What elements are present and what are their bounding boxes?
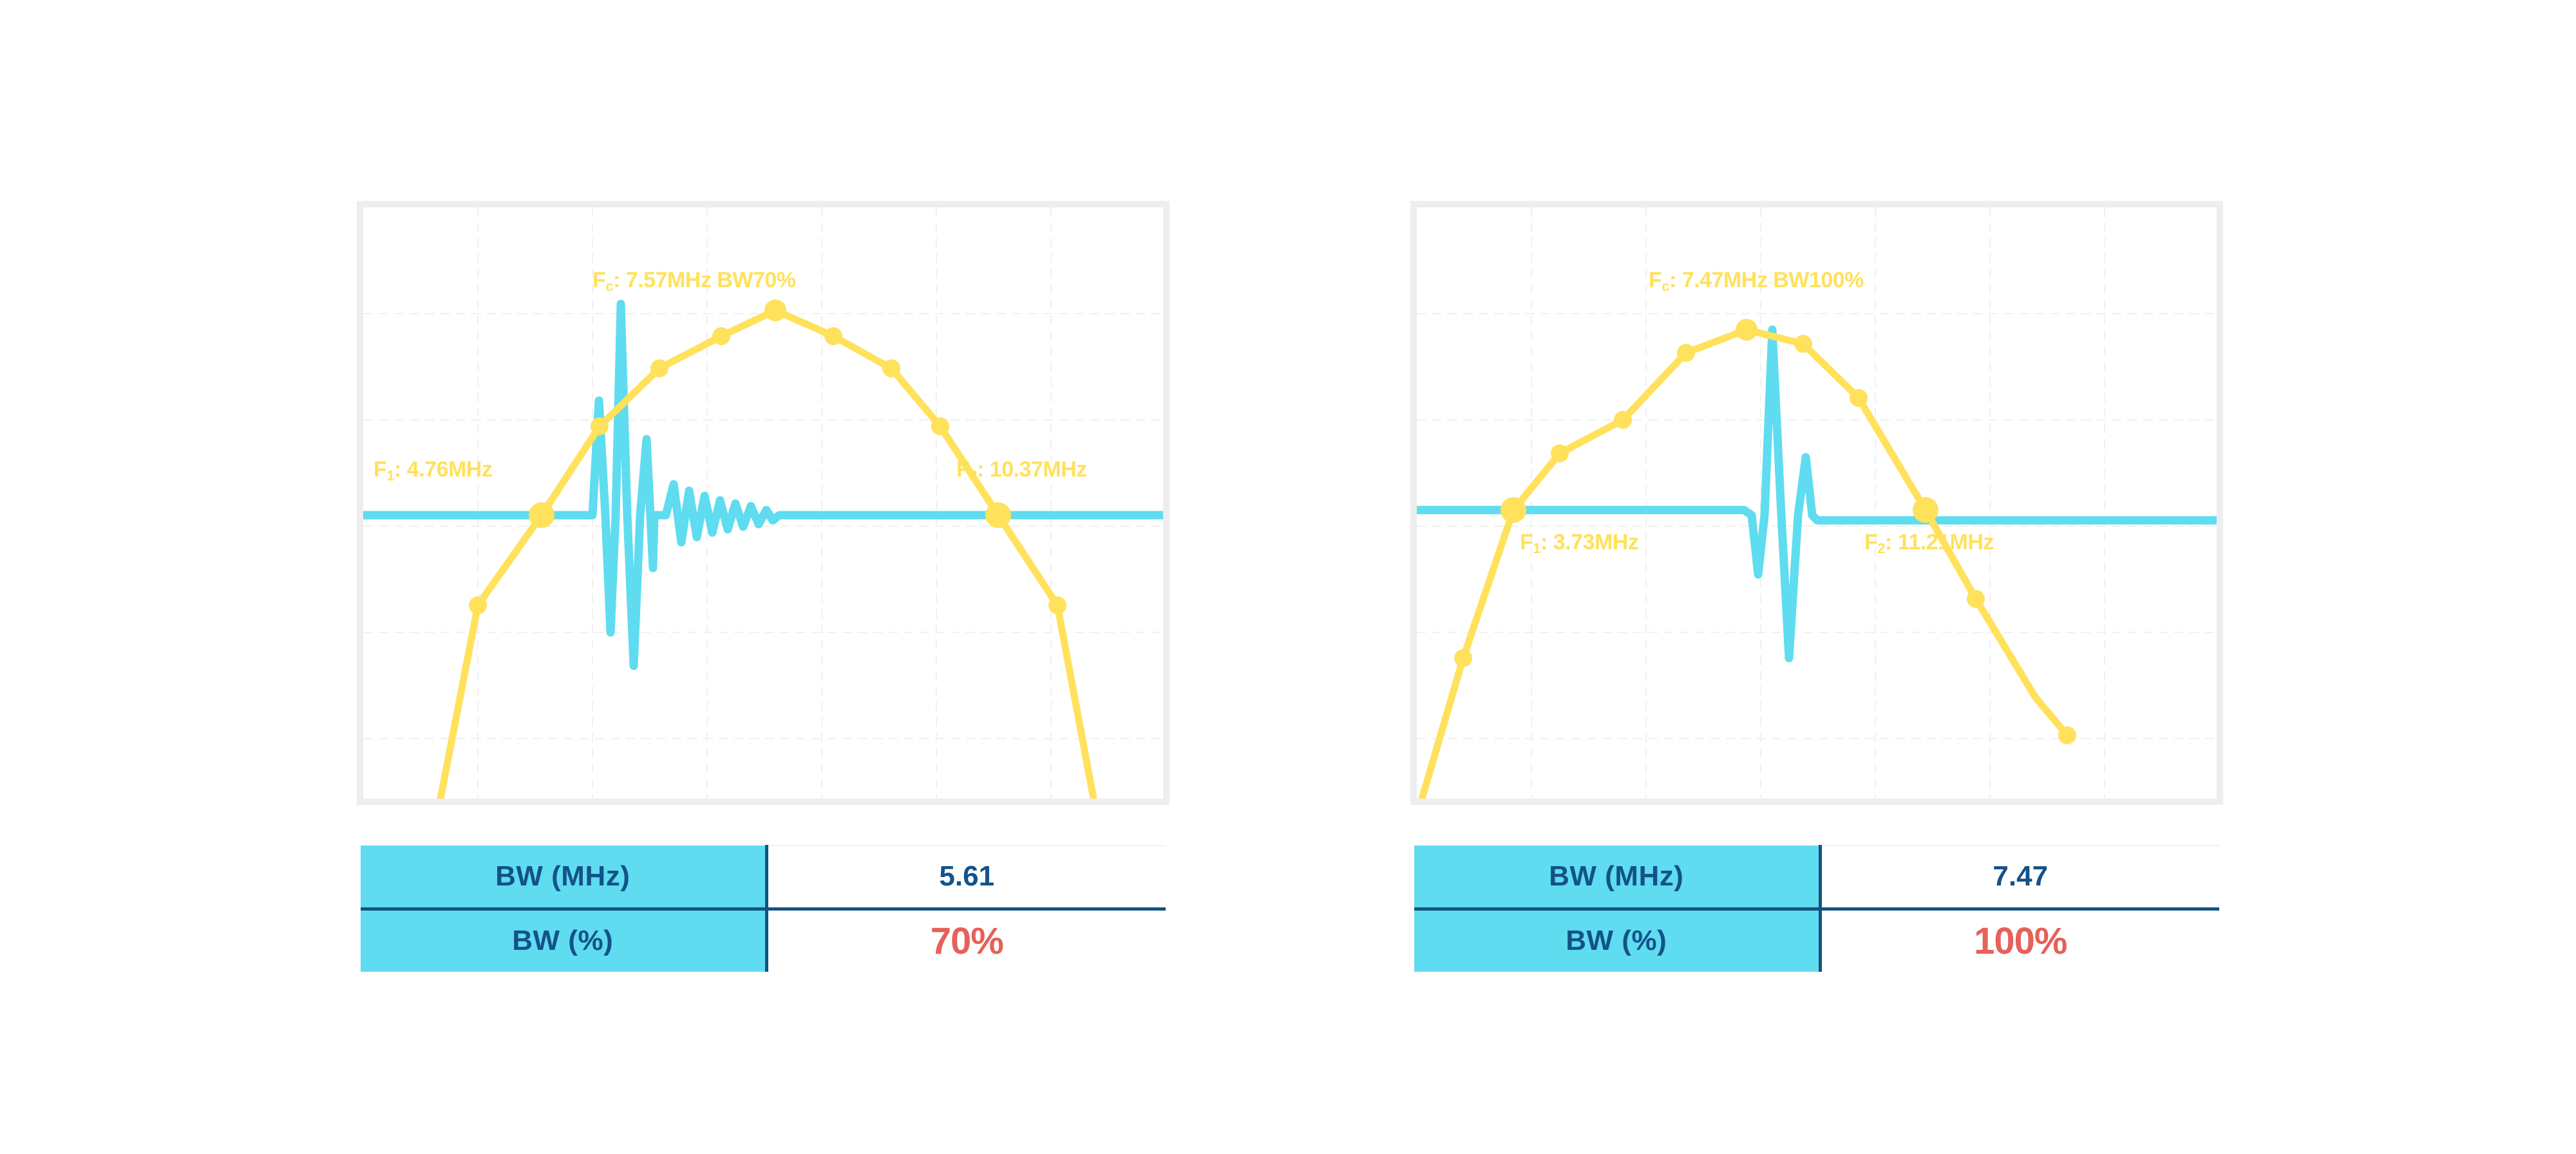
spectrum-chart-left	[363, 207, 1163, 799]
grid-lines-right	[1417, 207, 2217, 799]
bw-mhz-value-left: 5.61	[766, 846, 1166, 909]
f2-symbol: F	[956, 457, 969, 482]
fc-subscript: c	[1662, 278, 1669, 294]
center-frequency-label-right: Fc: 7.47MHz BW100%	[1649, 269, 1864, 294]
f1-text: : 4.76MHz	[394, 457, 492, 482]
f2-text: : 10.37MHz	[977, 457, 1087, 482]
f2-symbol: F	[1864, 530, 1877, 554]
bw-mhz-value-right: 7.47	[1820, 846, 2219, 909]
f1-subscript: 1	[386, 468, 394, 484]
fc-symbol: F	[592, 268, 605, 292]
f2-subscript: 2	[1877, 540, 1885, 556]
bw-mhz-label-right: BW (MHz)	[1414, 846, 1820, 909]
pulse-waveform-right	[1417, 330, 2217, 658]
bw-pct-value-left: 70%	[766, 909, 1166, 972]
spectrum-curve-left	[440, 310, 1094, 799]
fc-text: : 7.57MHz BW70%	[613, 268, 795, 292]
table-row: BW (%) 100%	[1414, 909, 2219, 972]
f1-subscript: 1	[1533, 540, 1540, 556]
spectrum-curve-right	[1422, 330, 2067, 799]
fc-text: : 7.47MHz BW100%	[1669, 268, 1864, 292]
f1-frequency-label-left: F1: 4.76MHz	[374, 459, 492, 483]
figure-canvas: Fc: 7.57MHz BW70% F1: 4.76MHz F2: 10.37M…	[0, 0, 2576, 1154]
f1-text: : 3.73MHz	[1540, 530, 1638, 554]
plot-area-right	[1417, 207, 2217, 799]
fc-subscript: c	[605, 278, 613, 294]
spectrum-chart-right	[1417, 207, 2217, 799]
f1-symbol: F	[1520, 530, 1533, 554]
center-frequency-label-left: Fc: 7.57MHz BW70%	[592, 269, 796, 294]
bandwidth-table-left: BW (MHz) 5.61 BW (%) 70%	[361, 845, 1166, 972]
table-row: BW (MHz) 5.61	[361, 846, 1166, 909]
bw-pct-label-left: BW (%)	[361, 909, 766, 972]
plot-area-left	[363, 207, 1163, 799]
table-row: BW (MHz) 7.47	[1414, 846, 2219, 909]
table-row: BW (%) 70%	[361, 909, 1166, 972]
f1-symbol: F	[374, 457, 386, 482]
grid-lines-left	[363, 207, 1163, 799]
f2-frequency-label-right: F2: 11.21MHz	[1864, 531, 1994, 556]
bw-mhz-label-left: BW (MHz)	[361, 846, 766, 909]
f2-subscript: 2	[969, 468, 977, 484]
f2-frequency-label-left: F2: 10.37MHz	[956, 459, 1087, 483]
bandwidth-table-right: BW (MHz) 7.47 BW (%) 100%	[1414, 845, 2219, 972]
fc-symbol: F	[1649, 268, 1662, 292]
bw-pct-label-right: BW (%)	[1414, 909, 1820, 972]
f1-frequency-label-right: F1: 3.73MHz	[1520, 531, 1638, 556]
bw-pct-value-right: 100%	[1820, 909, 2219, 972]
f2-text: : 11.21MHz	[1885, 530, 1994, 554]
